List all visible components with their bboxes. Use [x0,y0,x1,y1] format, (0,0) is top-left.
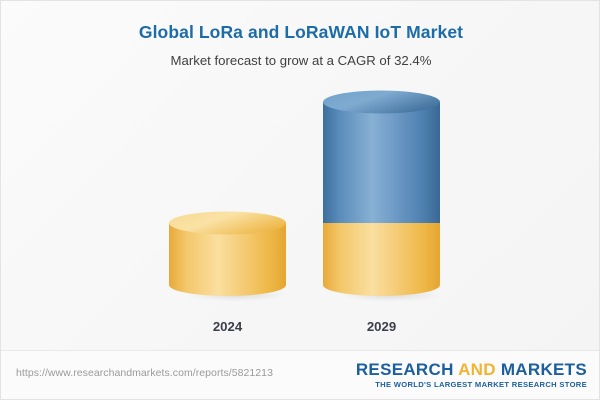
bar-year-label-2029: 2029 [319,319,444,334]
bar-group-2029: USD 32.7 Billion [319,1,444,351]
report-url[interactable]: https://www.researchandmarkets.com/repor… [16,367,273,379]
footer: https://www.researchandmarkets.com/repor… [1,350,600,399]
infographic-canvas: Global LoRa and LoRaWAN IoT Market Marke… [0,0,600,400]
logo-wordmark: RESEARCH AND MARKETS [356,360,587,379]
bar-cylinder-2029 [319,89,444,304]
logo-tagline: THE WORLD'S LARGEST MARKET RESEARCH STOR… [356,380,587,389]
bar-group-2024: USD 8 Billion [165,1,290,351]
bar-chart: USD 8 Billion [1,1,600,351]
logo-word-and: AND [458,360,496,379]
bar-year-label-2024: 2024 [165,319,290,334]
logo-word-markets: MARKETS [501,360,587,379]
research-and-markets-logo[interactable]: RESEARCH AND MARKETS THE WORLD'S LARGEST… [356,360,587,389]
logo-word-research: RESEARCH [356,360,454,379]
bar-cylinder-2024 [165,204,290,304]
